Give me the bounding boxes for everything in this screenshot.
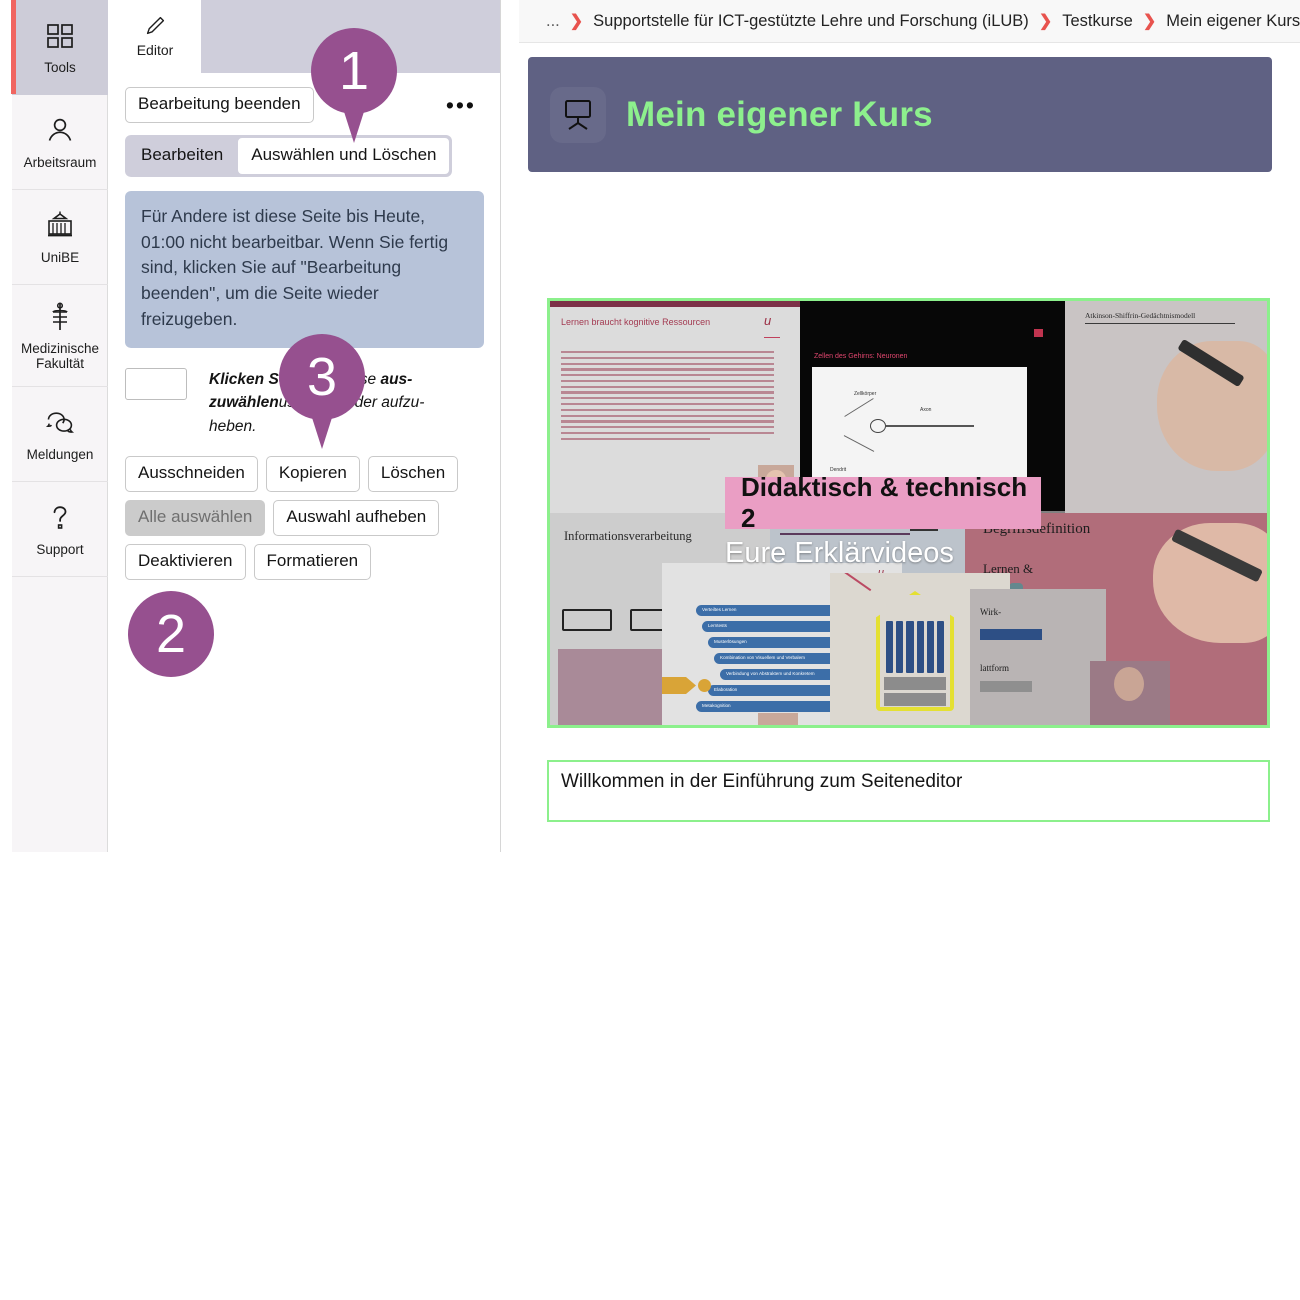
select-all-button[interactable]: Alle auswählen	[125, 500, 265, 536]
hint-line1-mid: ente um diese	[279, 371, 381, 388]
hint-line3: heben.	[209, 418, 256, 435]
segment-bearbeiten[interactable]: Bearbeiten	[127, 137, 237, 175]
grid-icon	[43, 19, 77, 53]
copy-button[interactable]: Kopieren	[266, 456, 360, 492]
text-element[interactable]: Willkommen in der Einführung zum Seitene…	[547, 760, 1270, 822]
clear-selection-button[interactable]: Auswahl aufheben	[273, 500, 439, 536]
collage-slide-wirkplattform: Wirk- lattform	[970, 589, 1106, 728]
collage-ribbon-subtitle: Eure Erklärvideos	[725, 537, 1065, 570]
sidebar-item-unibe[interactable]: UniBE	[12, 190, 108, 285]
bar-label: Metakognition	[702, 703, 731, 708]
breadcrumb: ... ❯ Supportstelle für ICT-gestützte Le…	[519, 0, 1300, 43]
collage-slide-atkinson-shiffrin: Atkinson-Shiffrin-Gedächtnismodell	[1065, 301, 1270, 513]
collage-ribbon-title: Didaktisch & technisch 2	[725, 477, 1041, 529]
segment-auswaehlen-und-loeschen[interactable]: Auswählen und Löschen	[237, 137, 450, 175]
cut-button[interactable]: Ausschneiden	[125, 456, 258, 492]
bar-label: Musterlösungen	[714, 639, 747, 644]
action-row-2: Alle auswählen Auswahl aufheben	[125, 500, 439, 536]
bar-label: Elaboration	[714, 687, 737, 692]
hint-line1-end: aus-	[380, 371, 412, 388]
bar-label: Verbindung von Abstraktem und Konkretem	[726, 671, 815, 676]
slide-label: Wirk-	[980, 607, 1001, 617]
lock-info-message: Für Andere ist diese Seite bis Heute, 01…	[125, 191, 484, 348]
tab-editor[interactable]: Editor	[109, 0, 201, 73]
course-header-banner: Mein eigener Kurs	[528, 57, 1272, 172]
ribbon-title-text: Didaktisch & technisch 2	[741, 472, 1041, 534]
delete-button[interactable]: Löschen	[368, 456, 458, 492]
chevron-right-icon: ❯	[1039, 11, 1052, 31]
mode-segmented-control: Bearbeiten Auswählen und Löschen	[125, 135, 452, 177]
slide-title: Atkinson-Shiffrin-Gedächtnismodell	[1085, 311, 1195, 320]
deactivate-button[interactable]: Deaktivieren	[125, 544, 246, 580]
end-editing-button[interactable]: Bearbeitung beenden	[125, 87, 314, 123]
editor-panel: Editor Bearbeitung beenden ••• Bearbeite…	[109, 0, 501, 852]
media-element[interactable]: Lernen braucht kognitive Ressourcen u Ze…	[547, 298, 1270, 728]
left-nav-rail: Tools Arbeitsraum	[12, 0, 108, 852]
brand-mark: u	[764, 313, 786, 328]
flipchart-icon	[550, 87, 606, 143]
slide-label: lattform	[980, 663, 1009, 673]
format-button[interactable]: Formatieren	[254, 544, 372, 580]
collage-slide-webcam-thumb	[1090, 661, 1170, 728]
hint-line2-bold: zuwählen	[209, 394, 279, 411]
question-mark-icon	[43, 501, 77, 535]
breadcrumb-item-ilub[interactable]: Supportstelle für ICT-gestützte Lehre un…	[593, 12, 1029, 31]
editor-toolbar-row: Bearbeitung beenden •••	[125, 87, 484, 123]
sidebar-item-arbeitsraum[interactable]: Arbeitsraum	[12, 95, 108, 190]
breadcrumb-item-testkurse[interactable]: Testkurse	[1062, 12, 1133, 31]
sidebar-item-tools[interactable]: Tools	[12, 0, 108, 95]
bar-label: Verteiltes Lernen	[702, 607, 736, 612]
sidebar-item-label: Tools	[44, 60, 76, 75]
hint-line1-bold: Klicken S	[209, 371, 279, 388]
action-row-3: Deaktivieren Formatieren	[125, 544, 371, 580]
action-row-1: Ausschneiden Kopieren Löschen	[125, 456, 458, 492]
rail-empty-space	[12, 577, 107, 1032]
sidebar-item-label: Support	[36, 542, 83, 557]
neuron-label-axon: Axon	[920, 407, 931, 413]
hint-line2-mid: uswahl wieder aufzu-	[279, 394, 425, 411]
selection-hint-text: Klicken Sente um diese aus- zuwählenuswa…	[209, 368, 424, 439]
pencil-icon	[144, 15, 166, 37]
slide-title: Zellen des Gehirns: Neuronen	[814, 353, 907, 360]
collage-image: Lernen braucht kognitive Ressourcen u Ze…	[550, 301, 1267, 725]
sidebar-item-label: Arbeitsraum	[24, 155, 97, 170]
slide-title: Informationsverarbeitung	[564, 529, 692, 544]
sidebar-item-label: UniBE	[41, 250, 79, 265]
breadcrumb-item-current[interactable]: Mein eigener Kurs	[1166, 12, 1300, 31]
slide-title: Lernen braucht kognitive Ressourcen	[561, 317, 710, 327]
main-content: ... ❯ Supportstelle für ICT-gestützte Le…	[519, 0, 1300, 852]
selection-count-input[interactable]	[125, 368, 187, 400]
more-options-icon[interactable]: •••	[446, 100, 484, 110]
sidebar-item-label: Medizinische Fakultät	[21, 341, 99, 371]
neuron-label-soma: Zellkörper	[854, 391, 876, 397]
editor-tabbar: Editor	[109, 0, 500, 73]
editor-body: Bearbeitung beenden ••• Bearbeiten Auswä…	[109, 73, 500, 580]
action-button-groups: Ausschneiden Kopieren Löschen Alle auswä…	[125, 456, 484, 580]
text-element-content: Willkommen in der Einführung zum Seitene…	[561, 771, 962, 792]
university-building-icon	[43, 209, 77, 243]
sidebar-item-label: Meldungen	[27, 447, 94, 462]
person-icon	[43, 114, 77, 148]
chevron-right-icon: ❯	[570, 11, 583, 31]
app-root: Tools Arbeitsraum	[0, 0, 1300, 1300]
bar-label: Kombination von Visuellem und Verbalem	[720, 655, 805, 660]
tab-editor-label: Editor	[137, 42, 174, 58]
chevron-right-icon: ❯	[1143, 11, 1156, 31]
breadcrumb-ellipsis[interactable]: ...	[546, 12, 560, 31]
hint-row: Klicken Sente um diese aus- zuwählenuswa…	[125, 368, 484, 439]
speech-bubbles-icon	[43, 406, 77, 440]
sidebar-item-support[interactable]: Support	[12, 482, 108, 577]
sidebar-item-meldungen[interactable]: Meldungen	[12, 387, 108, 482]
bar-label: Lerntests	[708, 623, 727, 628]
page-title: Mein eigener Kurs	[626, 95, 933, 135]
asclepius-rod-icon	[43, 300, 77, 334]
sidebar-item-medizinische-fakultaet[interactable]: Medizinische Fakultät	[12, 285, 108, 387]
